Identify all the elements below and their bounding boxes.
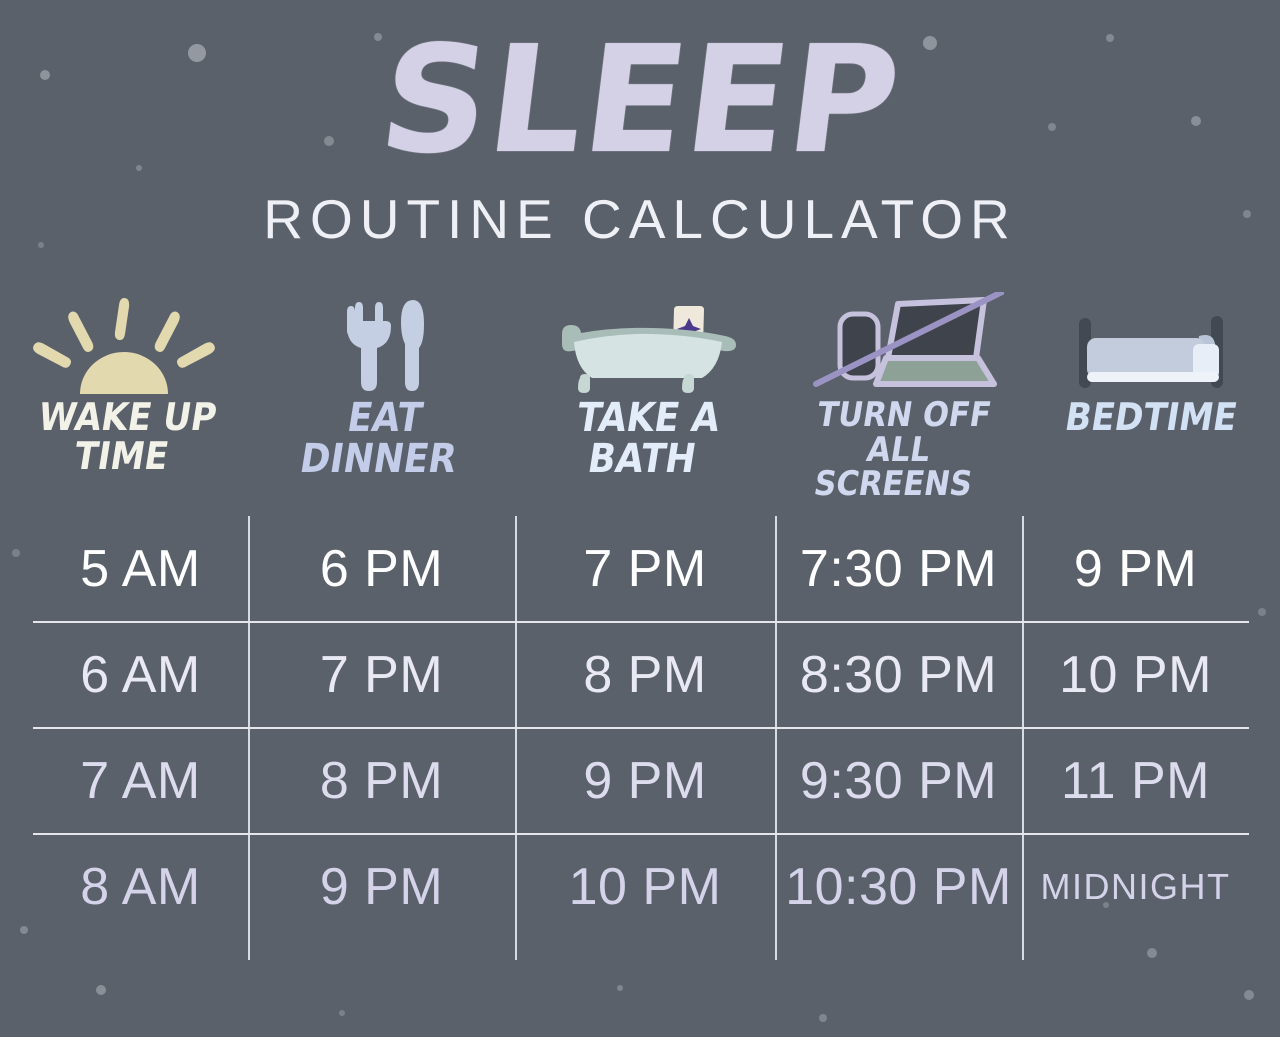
table-row: 5 AM 6 PM 7 PM 7:30 PM 9 PM: [33, 516, 1249, 622]
table-cell: 6 AM: [33, 622, 248, 728]
column-label: TURN OFF ALL SCREENS: [779, 398, 1018, 502]
column-header-bedtime: BEDTIME: [1022, 288, 1280, 516]
table-cell: 7:30 PM: [775, 516, 1022, 622]
table-cell: 7 PM: [515, 516, 775, 622]
star-dot: [20, 926, 28, 934]
column-label: WAKE UP TIME: [29, 398, 219, 476]
table-cell: 7 AM: [33, 728, 248, 834]
table-cell: 10:30 PM: [775, 834, 1022, 940]
table-cell: 7 PM: [248, 622, 515, 728]
table-cell: 10 PM: [1022, 622, 1249, 728]
star-dot: [96, 985, 106, 995]
table-cell: 5 AM: [33, 516, 248, 622]
star-dot: [339, 1010, 345, 1016]
sleep-routine-poster: SLEEP ROUTINE CALCULATOR WAKE UP TIME: [0, 0, 1280, 1037]
table-cell: 9 PM: [515, 728, 775, 834]
fork-knife-icon: [327, 288, 437, 394]
title-block: SLEEP ROUTINE CALCULATOR: [0, 28, 1280, 251]
column-label: BEDTIME: [1062, 398, 1239, 437]
bathtub-icon: [552, 288, 738, 394]
page-title: SLEEP: [373, 28, 907, 173]
column-label: TAKE A BATH: [567, 398, 722, 480]
table-cell: 10 PM: [515, 834, 775, 940]
table-row: 7 AM 8 PM 9 PM 9:30 PM 11 PM: [33, 728, 1249, 834]
column-header-take-a-bath: TAKE A BATH: [515, 288, 775, 516]
table-cell: 8:30 PM: [775, 622, 1022, 728]
star-dot: [617, 985, 623, 991]
page-subtitle: ROUTINE CALCULATOR: [0, 187, 1280, 251]
table-cell: MIDNIGHT: [1022, 834, 1249, 940]
star-dot: [1258, 608, 1266, 616]
table-cell: 8 PM: [248, 728, 515, 834]
sunrise-icon: [24, 288, 224, 394]
table-cell: 8 PM: [515, 622, 775, 728]
table-row: 8 AM 9 PM 10 PM 10:30 PM MIDNIGHT: [33, 834, 1249, 940]
star-dot: [12, 549, 20, 557]
column-header-turn-off-all-screens: TURN OFF ALL SCREENS: [775, 288, 1022, 516]
star-dot: [819, 1014, 827, 1022]
table-cell: 9 PM: [1022, 516, 1249, 622]
column-label: EAT DINNER: [297, 398, 466, 480]
column-header-row: WAKE UP TIME EAT DINNER: [0, 288, 1280, 516]
column-header-eat-dinner: EAT DINNER: [248, 288, 515, 516]
table-cell: 11 PM: [1022, 728, 1249, 834]
schedule-table: 5 AM 6 PM 7 PM 7:30 PM 9 PM 6 AM 7 PM 8 …: [33, 516, 1249, 960]
no-screens-icon: [794, 288, 1004, 394]
table-cell: 6 PM: [248, 516, 515, 622]
star-dot: [1244, 990, 1254, 1000]
table-cell: 8 AM: [33, 834, 248, 940]
table-cell: 9 PM: [248, 834, 515, 940]
table-row: 6 AM 7 PM 8 PM 8:30 PM 10 PM: [33, 622, 1249, 728]
bed-icon: [1061, 288, 1241, 394]
table-cell: 9:30 PM: [775, 728, 1022, 834]
column-header-wake-up-time: WAKE UP TIME: [0, 288, 248, 516]
